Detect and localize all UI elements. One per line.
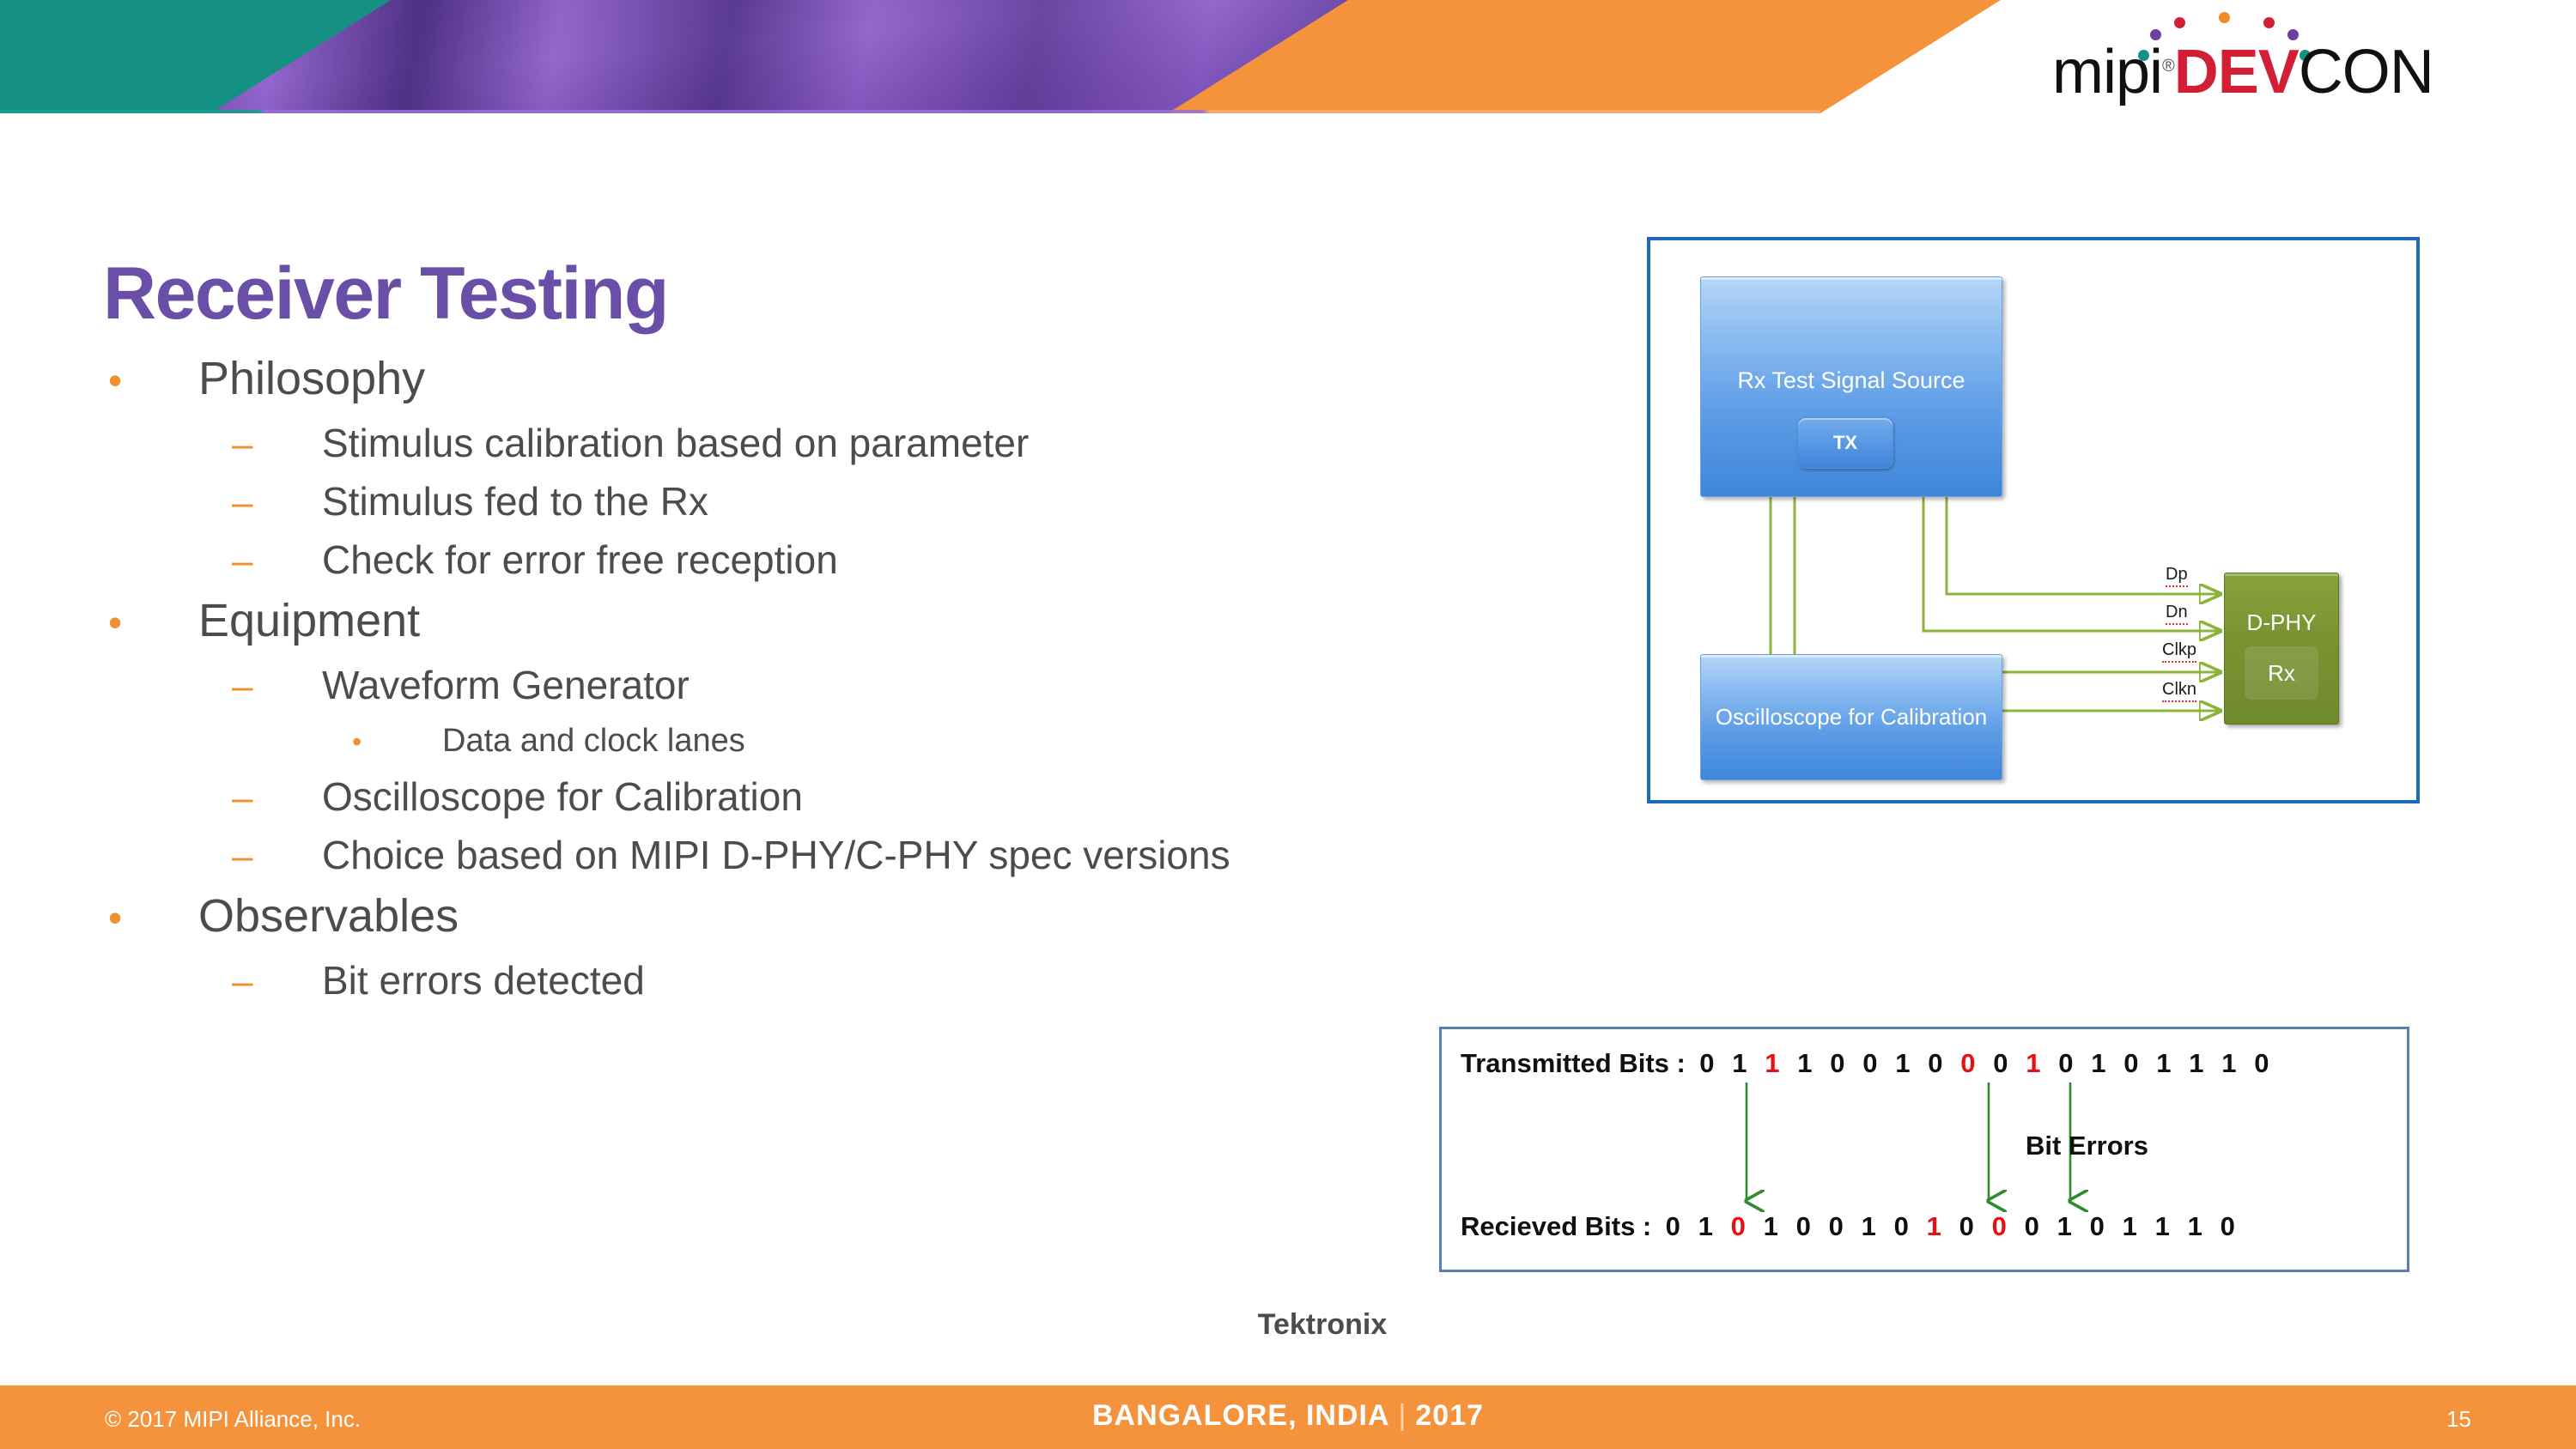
bit-cell: 0 [1950, 1211, 1983, 1242]
bullet-marker-icon: • [94, 898, 198, 937]
bullet-text: Oscilloscope for Calibration [322, 768, 1606, 825]
transmitted-bits-row: Transmitted Bits : 011100100010101110 [1461, 1048, 2278, 1079]
bullet-marker-icon: – [94, 779, 322, 817]
footer-page-number: 15 [2446, 1406, 2471, 1433]
bullet-text: Stimulus calibration based on parameter [322, 415, 1606, 471]
bullet-text: Bit errors detected [322, 952, 1606, 1009]
logo-registered-icon: ® [2162, 57, 2174, 76]
bit-cell: 0 [2015, 1211, 2048, 1242]
bit-cell: 1 [2178, 1211, 2211, 1242]
footer-bar: © 2017 MIPI Alliance, Inc. BANGALORE, IN… [0, 1385, 2576, 1449]
bullet-text: Waveform Generator [322, 657, 1606, 713]
bullet-item-l2: –Stimulus calibration based on parameter [94, 415, 1606, 471]
bullet-marker-icon: – [94, 963, 322, 1001]
wire-label-clkn: Clkn [2162, 680, 2196, 702]
wire-label-dp: Dp [2166, 565, 2188, 587]
bit-cell: 0 [1656, 1211, 1689, 1242]
diagram-tx-button: TX [1797, 417, 1893, 469]
logo-dot-3 [2219, 12, 2230, 23]
bit-cell: 1 [1886, 1048, 1919, 1079]
dphy-title-label: D-PHY [2247, 609, 2317, 636]
bullet-marker-icon: – [94, 838, 322, 876]
bit-cell: 0 [1722, 1211, 1754, 1242]
bit-cell: 0 [1820, 1211, 1852, 1242]
bit-cell: 0 [1787, 1211, 1820, 1242]
received-bits-values: 010100101000101110 [1656, 1211, 2244, 1242]
bit-error-diagram: Transmitted Bits : 011100100010101110 Re… [1439, 1027, 2409, 1272]
bit-cell: 1 [2180, 1048, 2213, 1079]
wire-label-dn: Dn [2166, 603, 2188, 625]
bullet-item-l2: –Check for error free reception [94, 531, 1606, 588]
bullet-marker-icon: – [94, 543, 322, 580]
bit-cell: 1 [1756, 1048, 1789, 1079]
bit-cell: 0 [1983, 1211, 2015, 1242]
bit-cell: 0 [1919, 1048, 1952, 1079]
logo-dot-4 [2263, 17, 2275, 28]
bit-cell: 1 [2148, 1048, 2180, 1079]
bullet-item-l3: •Data and clock lanes [94, 715, 1606, 767]
bullet-marker-icon: • [94, 728, 442, 755]
diagram-box-dphy-rx: D-PHY Rx [2224, 573, 2339, 724]
bit-cell: 1 [1754, 1211, 1787, 1242]
bullet-marker-icon: – [94, 426, 322, 464]
bullet-item-l1: •Philosophy [94, 348, 1606, 409]
bit-cell: 0 [2245, 1048, 2278, 1079]
logo-dot-2 [2174, 17, 2185, 28]
bit-cell: 0 [2050, 1048, 2082, 1079]
block-diagram: Rx Test Signal Source TX Oscilloscope fo… [1647, 237, 2420, 803]
mipi-devcon-logo: mipi®DEVCON [2052, 10, 2533, 103]
bit-cell: 1 [2017, 1048, 2050, 1079]
bullet-text: Stimulus fed to the Rx [322, 473, 1606, 530]
bullet-text: Check for error free reception [322, 531, 1606, 588]
received-bits-label: Recieved Bits : [1461, 1211, 1651, 1242]
bullet-text: Choice based on MIPI D-PHY/C-PHY spec ve… [322, 827, 1606, 883]
logo-text-mipi: mipi [2052, 38, 2162, 106]
bullet-item-l1: •Observables [94, 885, 1606, 947]
bullet-text: Equipment [198, 590, 1606, 652]
bit-cell: 1 [2048, 1211, 2081, 1242]
bit-cell: 1 [1723, 1048, 1756, 1079]
diagram-box-source-label: Rx Test Signal Source [1701, 367, 2002, 394]
footer-year: 2017 [1415, 1399, 1484, 1432]
bit-cell: 1 [2082, 1048, 2115, 1079]
bit-cell: 1 [1789, 1048, 1821, 1079]
diagram-box-oscilloscope: Oscilloscope for Calibration [1700, 654, 2002, 780]
wire-label-clkp: Clkp [2162, 640, 2196, 663]
transmitted-bits-label: Transmitted Bits : [1461, 1048, 1686, 1079]
footer-city: BANGALORE, INDIA [1092, 1399, 1390, 1432]
bit-cell: 0 [1952, 1048, 1984, 1079]
bit-cell: 0 [1885, 1211, 1917, 1242]
bit-cell: 1 [1917, 1211, 1950, 1242]
logo-wordmark: mipi®DEVCON [2052, 33, 2533, 100]
bullet-item-l2: –Waveform Generator [94, 657, 1606, 713]
bit-cell: 0 [1854, 1048, 1886, 1079]
bit-cell: 0 [2081, 1211, 2113, 1242]
footer-event-location: BANGALORE, INDIA|2017 [0, 1399, 2576, 1433]
bit-cell: 1 [2146, 1211, 2178, 1242]
banner-hairline [0, 110, 1820, 113]
bullet-text: Observables [198, 885, 1606, 947]
bullet-text: Philosophy [198, 348, 1606, 409]
logo-text-con: CON [2299, 38, 2433, 106]
bullet-marker-icon: • [94, 603, 198, 642]
bullet-marker-icon: – [94, 668, 322, 706]
bullet-item-l2: –Choice based on MIPI D-PHY/C-PHY spec v… [94, 827, 1606, 883]
vendor-caption: Tektronix [1219, 1308, 1425, 1342]
transmitted-bits-values: 011100100010101110 [1691, 1048, 2278, 1079]
logo-text-dev: DEV [2174, 38, 2299, 106]
bullet-item-l1: •Equipment [94, 590, 1606, 652]
bit-cell: 0 [1984, 1048, 2017, 1079]
bullet-item-l2: –Stimulus fed to the Rx [94, 473, 1606, 530]
bit-cell: 0 [1691, 1048, 1723, 1079]
bullet-item-l2: –Oscilloscope for Calibration [94, 768, 1606, 825]
bit-cell: 0 [1821, 1048, 1854, 1079]
dphy-rx-sublabel: Rx [2245, 646, 2318, 700]
footer-separator: | [1399, 1399, 1407, 1432]
bit-errors-annotation: Bit Errors [2026, 1131, 2148, 1161]
bullet-marker-icon: • [94, 361, 198, 400]
bit-cell: 1 [1852, 1211, 1885, 1242]
diagram-box-rx-test-signal-source: Rx Test Signal Source TX [1700, 276, 2002, 497]
bullet-list: •Philosophy–Stimulus calibration based o… [94, 348, 1606, 1010]
page-title: Receiver Testing [103, 252, 668, 336]
bullet-text: Data and clock lanes [442, 715, 1606, 767]
bit-cell: 1 [2113, 1211, 2146, 1242]
bullet-item-l2: –Bit errors detected [94, 952, 1606, 1009]
bullet-marker-icon: – [94, 484, 322, 522]
bit-cell: 0 [2115, 1048, 2148, 1079]
received-bits-row: Recieved Bits : 010100101000101110 [1461, 1211, 2244, 1242]
bit-cell: 1 [2213, 1048, 2245, 1079]
bit-cell: 1 [1689, 1211, 1722, 1242]
bit-cell: 0 [2211, 1211, 2244, 1242]
